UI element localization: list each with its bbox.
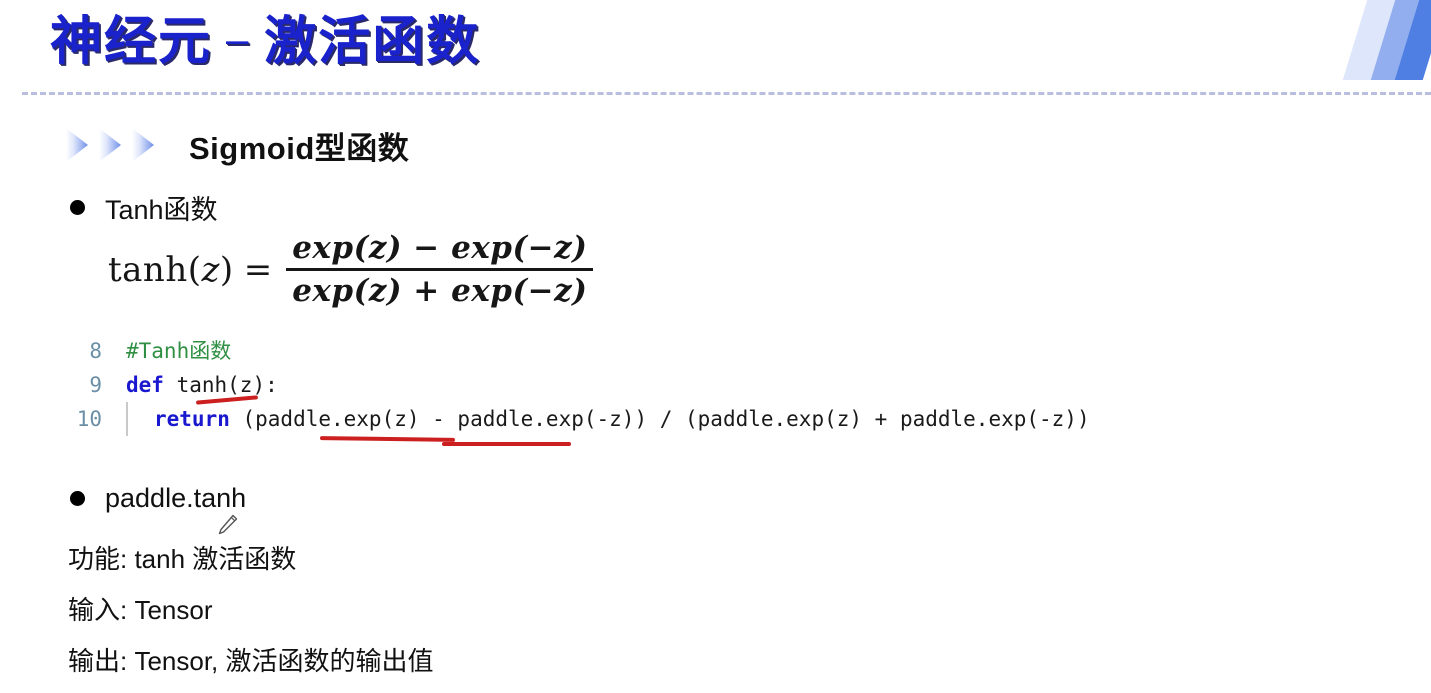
code-line[interactable]: 10return (paddle.exp(z) - paddle.exp(-z)… [56,402,1396,436]
formula-numerator: exp(z) − exp(−z) [286,228,593,268]
code-block[interactable]: 8#Tanh函数9def tanh(z):10return (paddle.ex… [56,334,1396,436]
pencil-cursor-icon [214,512,240,538]
formula-paren-open: ( [188,250,202,290]
code-line-content[interactable]: #Tanh函数 [126,334,231,368]
description-line: 输入: Tensor [68,590,213,627]
bullet-dot-icon [70,491,85,506]
bullet-item-paddle-tanh: paddle.tanh [70,483,246,514]
formula-variable: z [202,250,220,290]
formula-fraction: exp(z) − exp(−z) exp(z) + exp(−z) [286,228,593,311]
code-token-keyword: def [126,373,164,397]
code-line-number: 10 [56,402,126,436]
triangle-arrow-icon [99,128,121,162]
section-heading-label: Sigmoid型函数 [189,123,409,168]
code-line-number: 8 [56,334,126,368]
arrow-group [66,128,165,162]
tanh-formula: tanh(z) = exp(z) − exp(−z) exp(z) + exp(… [108,228,593,311]
code-token-keyword: return [154,407,230,431]
slide-header: 神经元–激活函数 [0,0,1431,95]
header-dashed-divider [22,92,1431,95]
bullet-dot-icon [70,200,85,215]
formula-function-name: tanh [108,250,188,290]
code-token-plain: (paddle.exp(z) - paddle.exp(-z)) / (padd… [230,407,1090,431]
formula-paren-close: ) [220,250,234,290]
section-heading: Sigmoid型函数 [66,122,409,168]
triangle-arrow-icon [132,128,154,162]
code-line-number: 9 [56,368,126,402]
bullet-label: Tanh函数 [105,188,218,227]
ink-annotation-underline [442,442,571,446]
page-title-right: 激活函数 [264,13,480,71]
bullet-label: paddle.tanh [105,483,246,514]
code-token-plain: tanh(z): [164,373,278,397]
page-title-left: 神经元 [50,13,212,71]
header-decoration-bars [1336,0,1431,80]
code-token-comment: #Tanh函数 [126,339,231,363]
code-line-content[interactable]: return (paddle.exp(z) - paddle.exp(-z)) … [126,402,1090,436]
code-indent-guide [126,402,128,436]
formula-left-hand-side: tanh(z) [108,250,244,290]
code-line[interactable]: 8#Tanh函数 [56,334,1396,368]
page-title-dash: – [212,18,264,62]
bullet-item-tanh: Tanh函数 [70,188,218,227]
triangle-arrow-icon [66,128,88,162]
description-line: 功能: tanh 激活函数 [68,539,296,576]
formula-equals-sign: = [244,250,287,290]
formula-denominator: exp(z) + exp(−z) [286,271,593,311]
page-title: 神经元–激活函数 [50,7,480,75]
description-line: 输出: Tensor, 激活函数的输出值 [68,641,434,678]
ink-annotation-underline [320,436,455,442]
